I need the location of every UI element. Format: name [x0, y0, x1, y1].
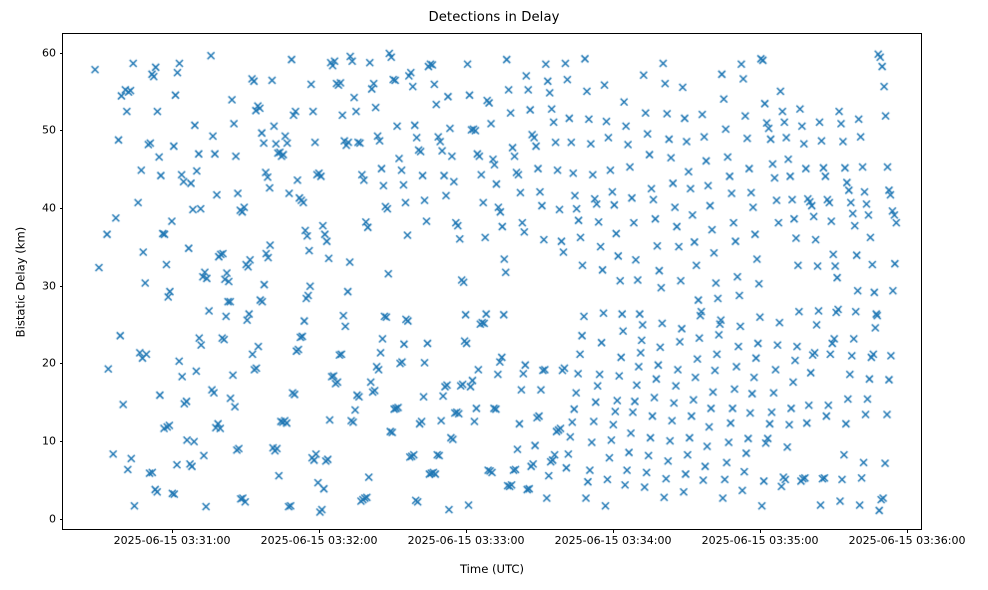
chart-title: Detections in Delay [0, 10, 988, 25]
x-tick-label: 2025-06-15 03:35:00 [702, 534, 819, 547]
y-axis-label: Bistatic Delay (km) [12, 33, 28, 530]
x-tick-label: 2025-06-15 03:33:00 [408, 534, 525, 547]
y-tick-mark [60, 208, 64, 209]
y-tick-label: 10 [42, 434, 56, 447]
x-tick-mark [466, 529, 467, 533]
x-tick-mark [907, 529, 908, 533]
x-tick-mark [613, 529, 614, 533]
y-axis-label-text: Bistatic Delay (km) [13, 226, 27, 337]
x-tick-mark [760, 529, 761, 533]
plot-axes: 0102030405060 2025-06-15 03:31:002025-06… [62, 33, 922, 530]
y-tick-mark [60, 519, 64, 520]
y-tick-mark [60, 53, 64, 54]
x-axis-label: Time (UTC) [62, 562, 922, 576]
y-tick-mark [60, 363, 64, 364]
x-tick-mark [172, 529, 173, 533]
y-tick-label: 20 [42, 357, 56, 370]
y-tick-mark [60, 441, 64, 442]
y-tick-label: 0 [49, 512, 56, 525]
y-tick-mark [60, 286, 64, 287]
x-tick-label: 2025-06-15 03:31:00 [114, 534, 231, 547]
y-tick-label: 60 [42, 46, 56, 59]
x-tick-label: 2025-06-15 03:36:00 [849, 534, 966, 547]
y-tick-label: 50 [42, 124, 56, 137]
y-tick-label: 30 [42, 279, 56, 292]
matplotlib-figure: Detections in Delay Bistatic Delay (km) … [0, 0, 988, 590]
y-tick-label: 40 [42, 201, 56, 214]
x-tick-label: 2025-06-15 03:34:00 [555, 534, 672, 547]
x-tick-label: 2025-06-15 03:32:00 [261, 534, 378, 547]
y-tick-mark [60, 130, 64, 131]
x-tick-mark [319, 529, 320, 533]
scatter-plot-canvas [63, 34, 921, 529]
